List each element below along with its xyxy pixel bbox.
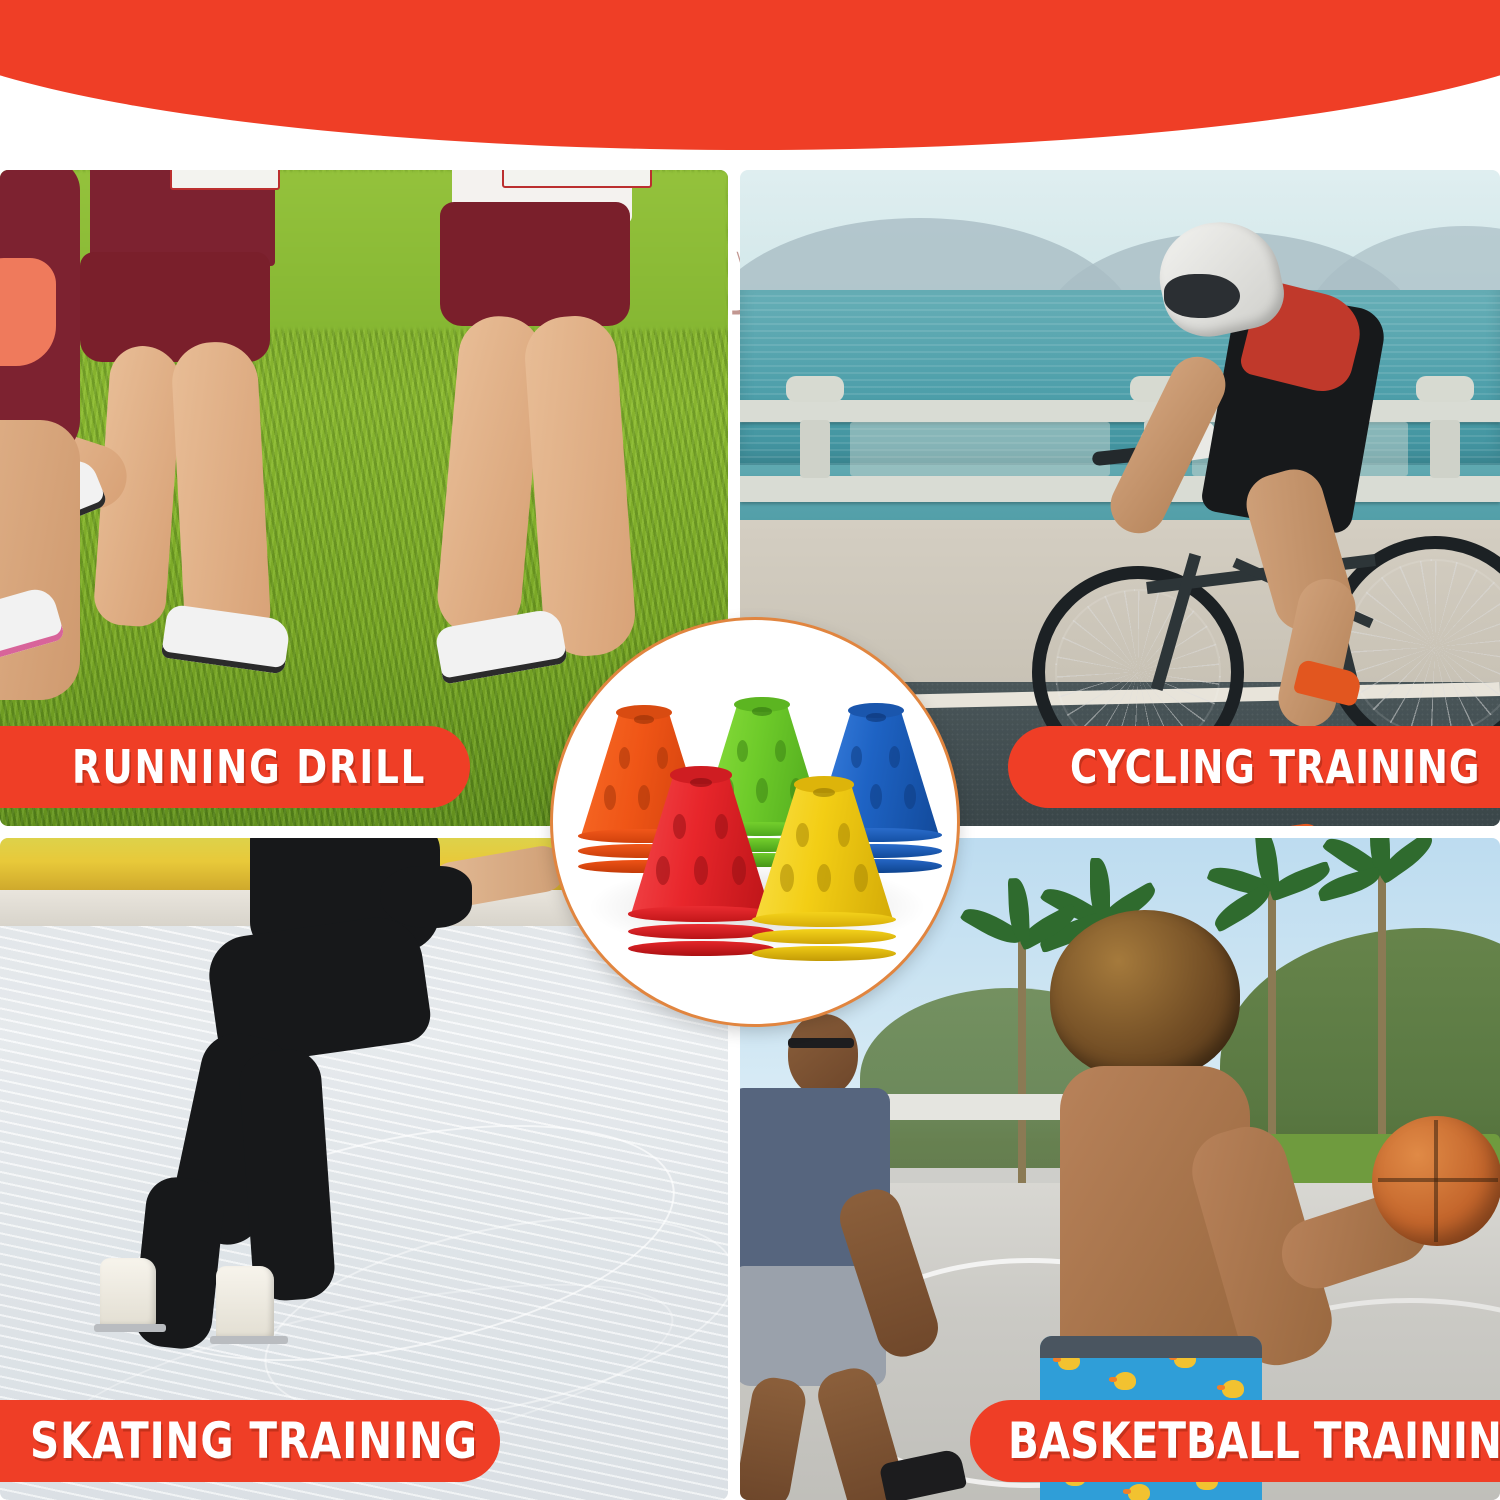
skater-glove	[380, 866, 472, 928]
ice-skate	[216, 1266, 274, 1340]
product-marketing-image: Improve your skills 261	[0, 0, 1500, 1500]
training-cones-group	[557, 624, 953, 1020]
race-bib-left: 261	[170, 170, 280, 190]
sunglasses	[788, 1038, 854, 1048]
skate-blade	[210, 1336, 288, 1344]
cone-red	[631, 772, 771, 964]
skate-blade	[94, 1324, 166, 1332]
skater-leg	[237, 1047, 336, 1302]
cone-yellow	[755, 782, 893, 968]
helmet-visor	[1164, 274, 1240, 318]
running-shoe	[161, 604, 291, 675]
label-basketball-training[interactable]: BASKETBALL TRAINING	[970, 1400, 1500, 1482]
race-bib-right	[502, 170, 652, 188]
product-showcase-circle[interactable]	[553, 620, 957, 1024]
runner-left: 261	[60, 170, 390, 686]
shoe-in-hand	[0, 258, 56, 366]
label-running-drill[interactable]: RUNNING DRILL	[0, 726, 470, 808]
label-skating-training[interactable]: SKATING TRAINING	[0, 1400, 500, 1482]
afro-hair	[1050, 910, 1240, 1080]
defender-head	[788, 1014, 858, 1096]
basketball	[1372, 1116, 1500, 1246]
header-banner	[0, 0, 1500, 150]
label-cycling-training[interactable]: CYCLING TRAINING	[1008, 726, 1500, 808]
ice-skate	[100, 1258, 156, 1328]
